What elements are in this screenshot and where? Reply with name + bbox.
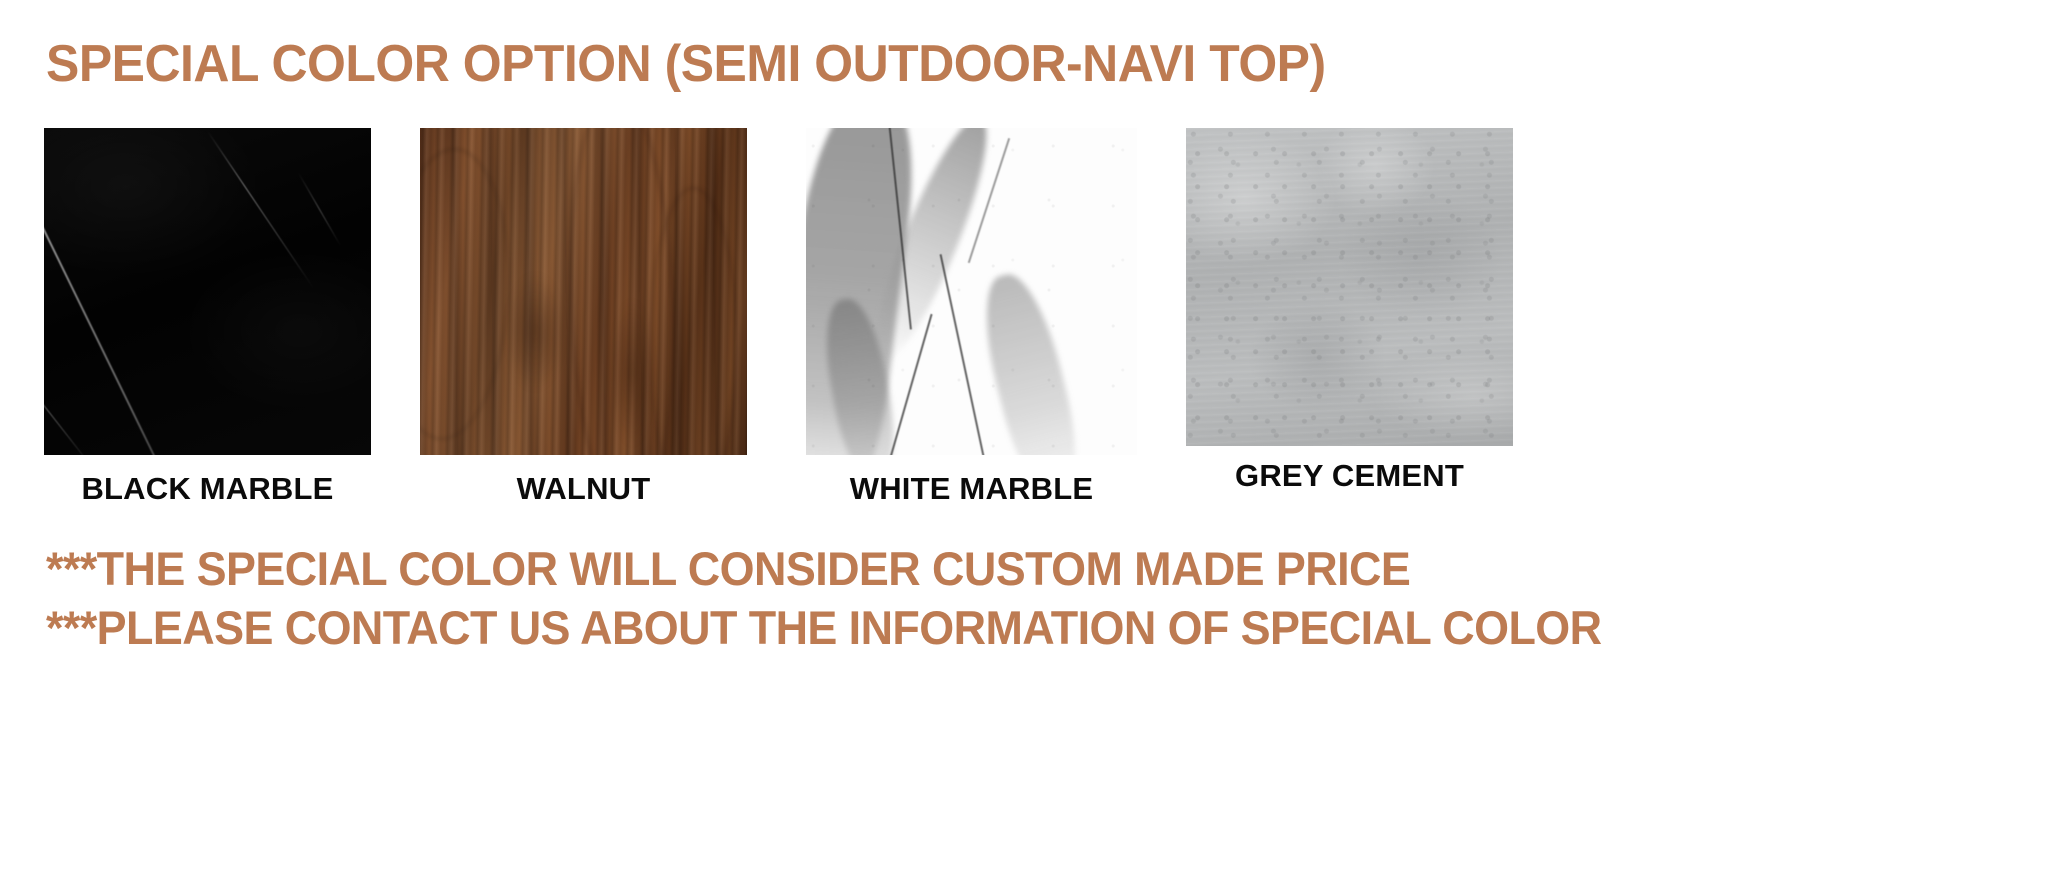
color-swatch-row: BLACK MARBLE WALNUT bbox=[0, 128, 2048, 508]
slide-canvas: SPECIAL COLOR OPTION (SEMI OUTDOOR-NAVI … bbox=[0, 0, 2048, 895]
swatch-image-white-marble[interactable] bbox=[806, 128, 1137, 455]
swatch-label-black-marble: BLACK MARBLE bbox=[44, 471, 371, 507]
swatch-image-walnut[interactable] bbox=[420, 128, 747, 455]
swatch-item-walnut[interactable]: WALNUT bbox=[420, 128, 747, 507]
marble-vein bbox=[297, 172, 340, 246]
footnote-line-1: ***THE SPECIAL COLOR WILL CONSIDER CUSTO… bbox=[46, 539, 1899, 598]
cement-streak bbox=[1186, 128, 1513, 446]
wood-sheen bbox=[420, 128, 747, 455]
page-title: SPECIAL COLOR OPTION (SEMI OUTDOOR-NAVI … bbox=[46, 33, 1326, 95]
swatch-item-black-marble[interactable]: BLACK MARBLE bbox=[44, 128, 371, 507]
swatch-item-white-marble[interactable]: WHITE MARBLE bbox=[806, 128, 1137, 507]
marble-speckle bbox=[806, 128, 1137, 455]
marble-vein bbox=[44, 364, 92, 455]
marble-vein bbox=[44, 133, 212, 455]
swatch-image-grey-cement[interactable] bbox=[1186, 128, 1513, 446]
swatch-image-black-marble[interactable] bbox=[44, 128, 371, 455]
footnote-line-2: ***PLEASE CONTACT US ABOUT THE INFORMATI… bbox=[46, 598, 1899, 657]
swatch-label-white-marble: WHITE MARBLE bbox=[806, 471, 1137, 507]
swatch-label-walnut: WALNUT bbox=[420, 471, 747, 507]
swatch-item-grey-cement[interactable]: GREY CEMENT bbox=[1186, 128, 1513, 494]
swatch-label-grey-cement: GREY CEMENT bbox=[1186, 458, 1513, 494]
footnote-block: ***THE SPECIAL COLOR WILL CONSIDER CUSTO… bbox=[46, 539, 1986, 657]
marble-vein bbox=[207, 130, 314, 288]
